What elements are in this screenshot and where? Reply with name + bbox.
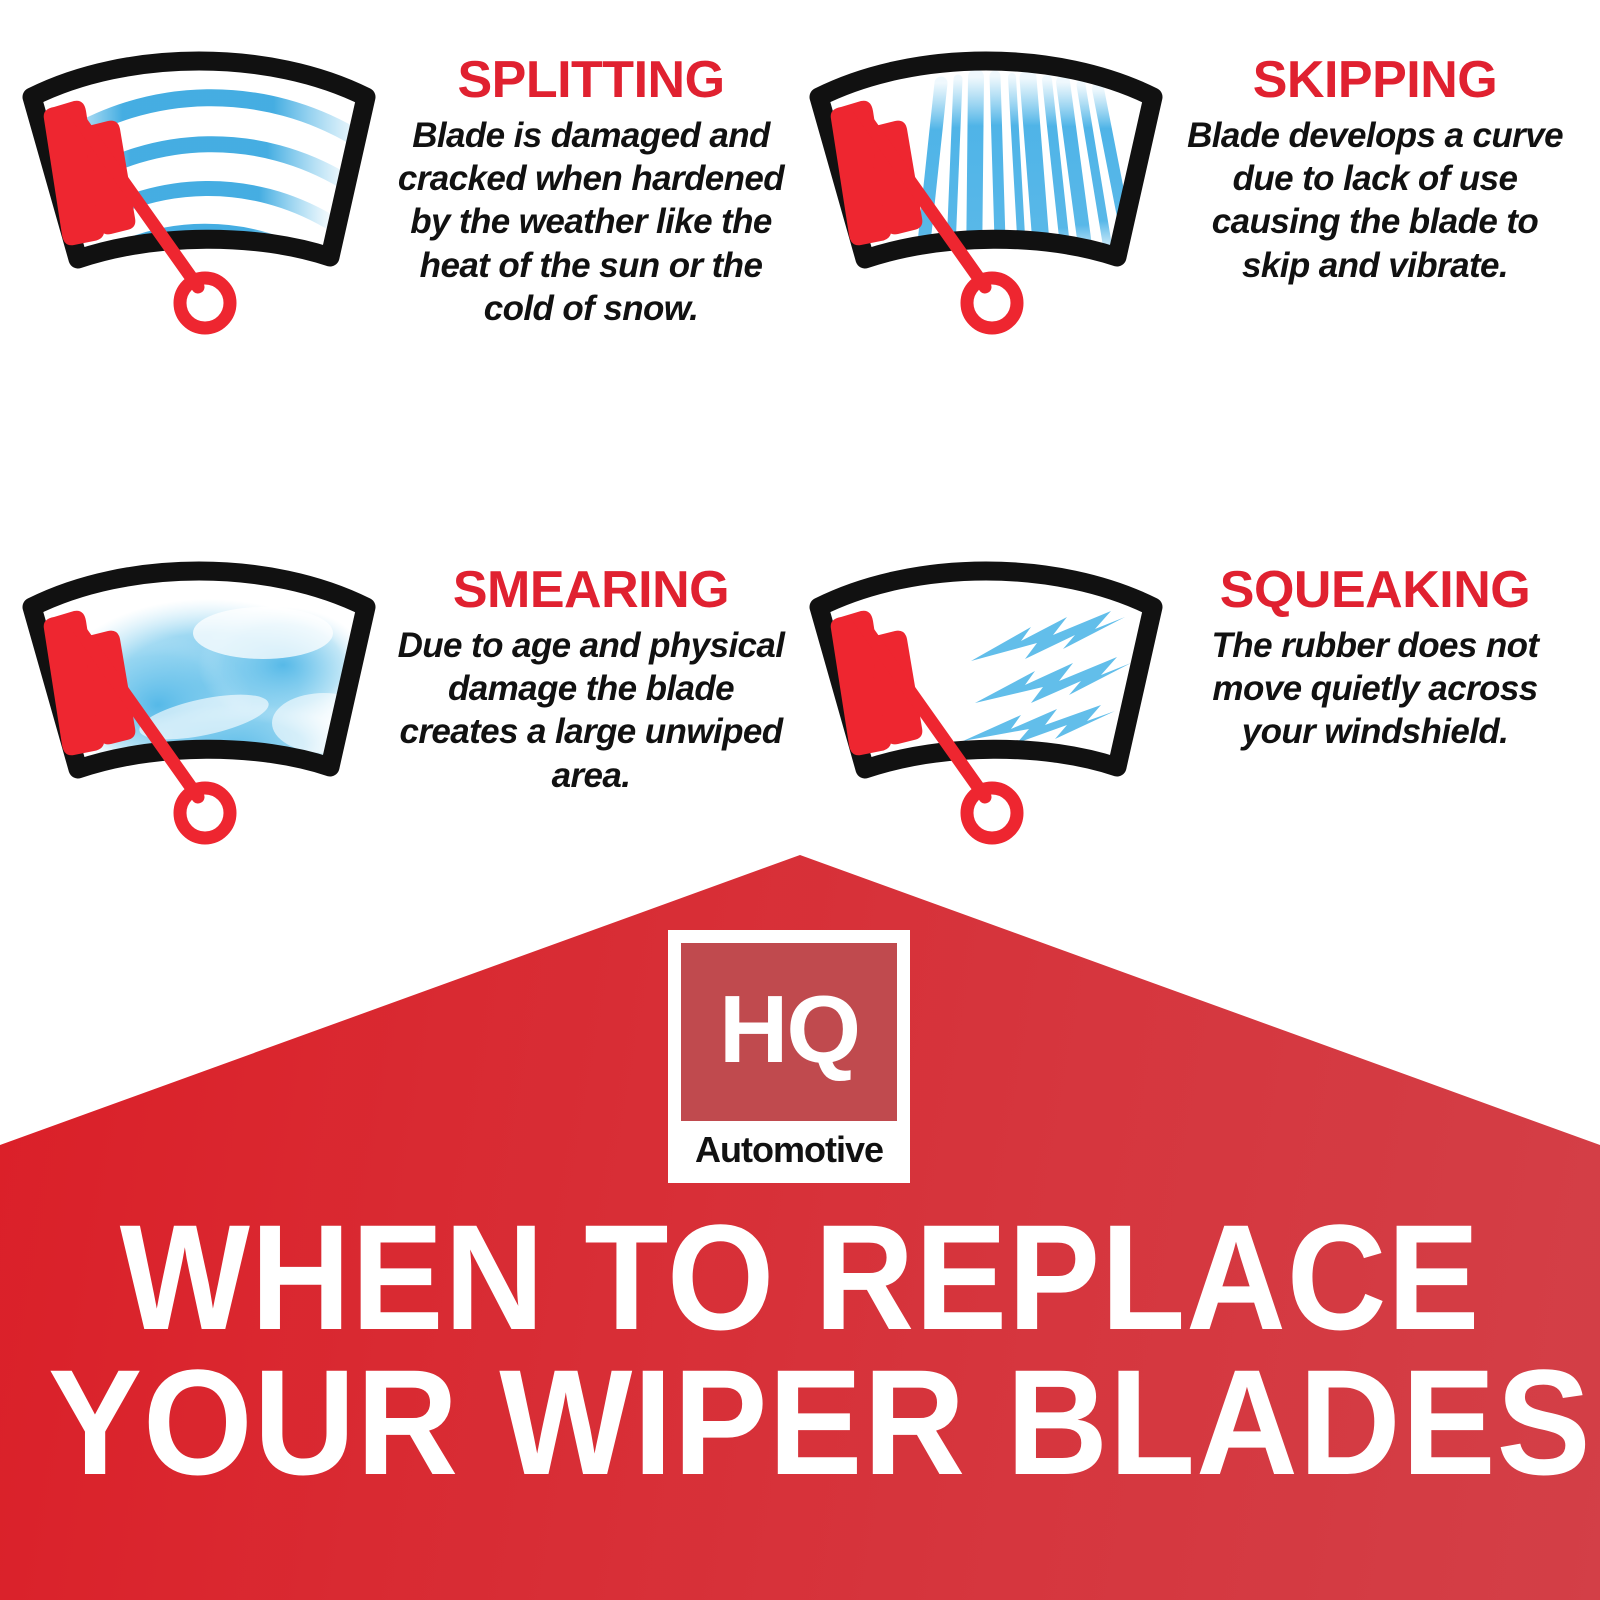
card-description: Blade develops a curve due to lack of us… bbox=[1183, 114, 1567, 288]
card-description: Due to age and physical damage the blade… bbox=[396, 624, 786, 798]
card-description: Blade is damaged and cracked when harden… bbox=[396, 114, 786, 331]
headline: WHEN TO REPLACE YOUR WIPER BLADES bbox=[0, 1205, 1600, 1495]
wiper-windshield-arcs-icon bbox=[8, 35, 388, 335]
card-description: The rubber does not move quietly across … bbox=[1183, 624, 1567, 754]
card-text-block: SPLITTING Blade is damaged and cracked w… bbox=[388, 35, 798, 331]
card-title: SQUEAKING bbox=[1183, 563, 1567, 618]
brand-logo: HQ Automotive bbox=[668, 930, 910, 1183]
symptom-card-skipping: SKIPPING Blade develops a curve due to l… bbox=[795, 35, 1585, 435]
card-title: SPLITTING bbox=[396, 53, 786, 108]
infographic-page: SPLITTING Blade is damaged and cracked w… bbox=[0, 0, 1600, 1600]
card-text-block: SMEARING Due to age and physical damage … bbox=[388, 545, 798, 797]
wiper-windshield-smear-icon bbox=[8, 545, 388, 845]
wiper-windshield-zigzag-icon bbox=[795, 545, 1175, 845]
wiper-windshield-streaks-icon bbox=[795, 35, 1175, 335]
logo-mark-box: HQ bbox=[681, 943, 897, 1121]
logo-subtitle: Automotive bbox=[681, 1121, 897, 1183]
headline-line-2: YOUR WIPER BLADES bbox=[48, 1350, 1552, 1495]
card-text-block: SKIPPING Blade develops a curve due to l… bbox=[1175, 35, 1585, 287]
card-text-block: SQUEAKING The rubber does not move quiet… bbox=[1175, 545, 1585, 754]
headline-line-1: WHEN TO REPLACE bbox=[64, 1205, 1536, 1350]
symptom-card-splitting: SPLITTING Blade is damaged and cracked w… bbox=[8, 35, 798, 435]
symptom-card-grid: SPLITTING Blade is damaged and cracked w… bbox=[0, 0, 1600, 860]
symptom-card-squeaking: SQUEAKING The rubber does not move quiet… bbox=[795, 545, 1585, 945]
logo-mark-text: HQ bbox=[719, 982, 859, 1078]
card-title: SKIPPING bbox=[1183, 53, 1567, 108]
symptom-card-smearing: SMEARING Due to age and physical damage … bbox=[8, 545, 798, 945]
card-title: SMEARING bbox=[396, 563, 786, 618]
